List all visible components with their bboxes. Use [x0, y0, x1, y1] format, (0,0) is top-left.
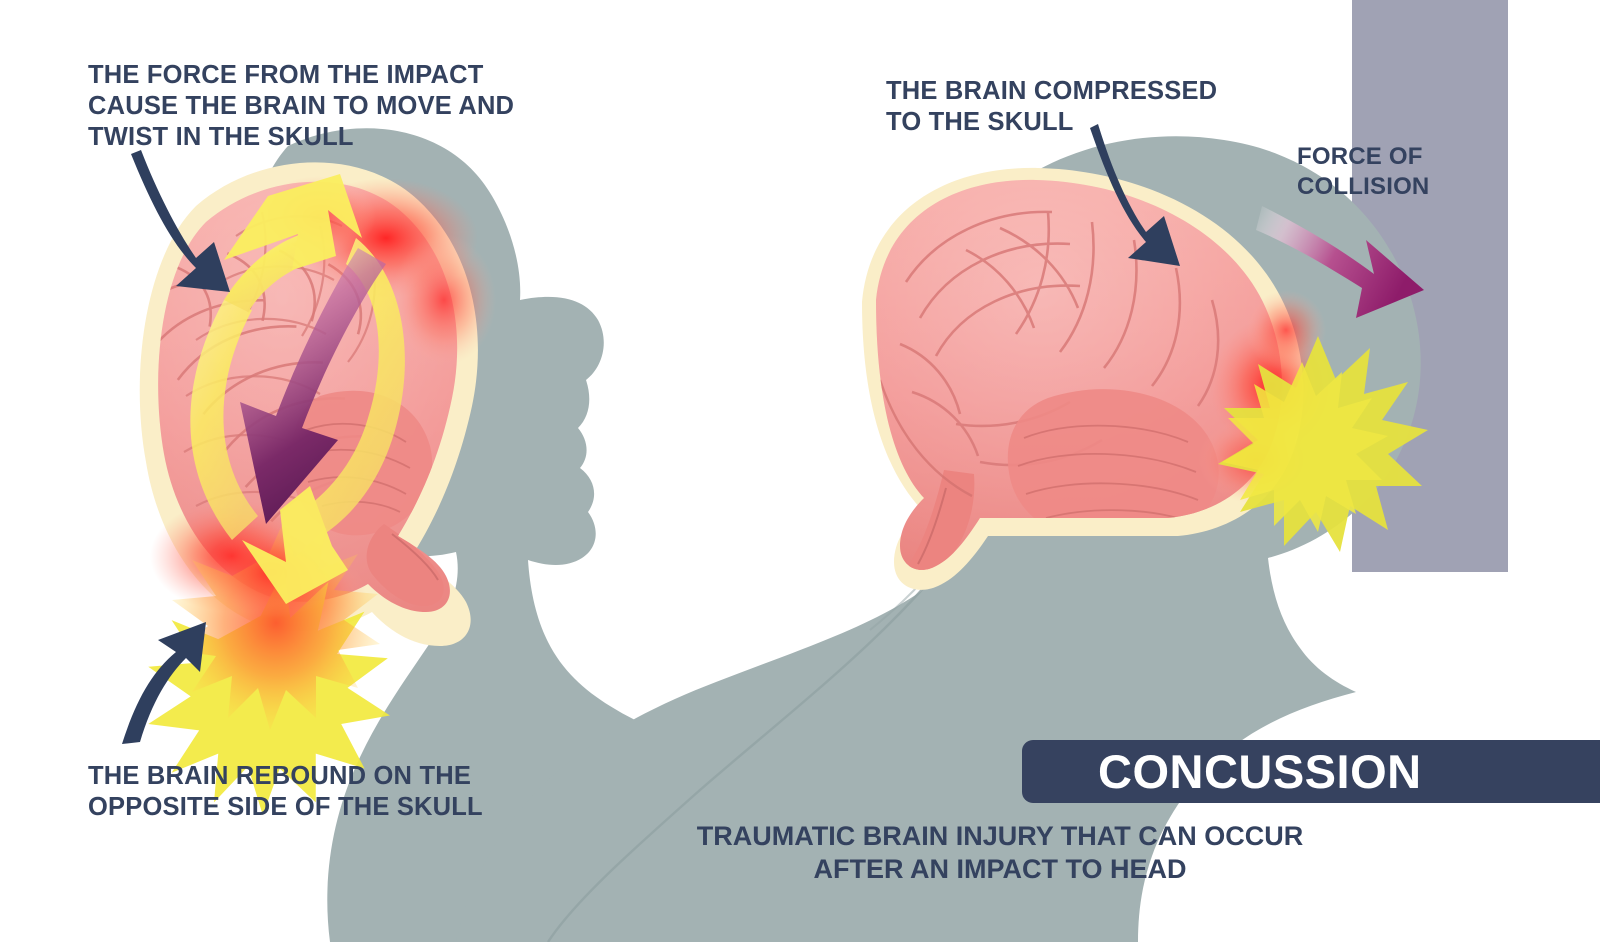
- label-force-from-impact: THE FORCE FROM THE IMPACT CAUSE THE BRAI…: [88, 60, 514, 153]
- subtitle-text: TRAUMATIC BRAIN INJURY THAT CAN OCCUR AF…: [500, 820, 1500, 886]
- page-title: CONCUSSION: [1098, 748, 1422, 795]
- label-force-of-collision: FORCE OF COLLISION: [1297, 142, 1429, 202]
- label-brain-rebound: THE BRAIN REBOUND ON THE OPPOSITE SIDE O…: [88, 761, 483, 823]
- concussion-title-banner: CONCUSSION: [1022, 740, 1600, 803]
- label-brain-compressed: THE BRAIN COMPRESSED TO THE SKULL: [886, 76, 1217, 138]
- infographic-canvas: THE FORCE FROM THE IMPACT CAUSE THE BRAI…: [0, 0, 1600, 942]
